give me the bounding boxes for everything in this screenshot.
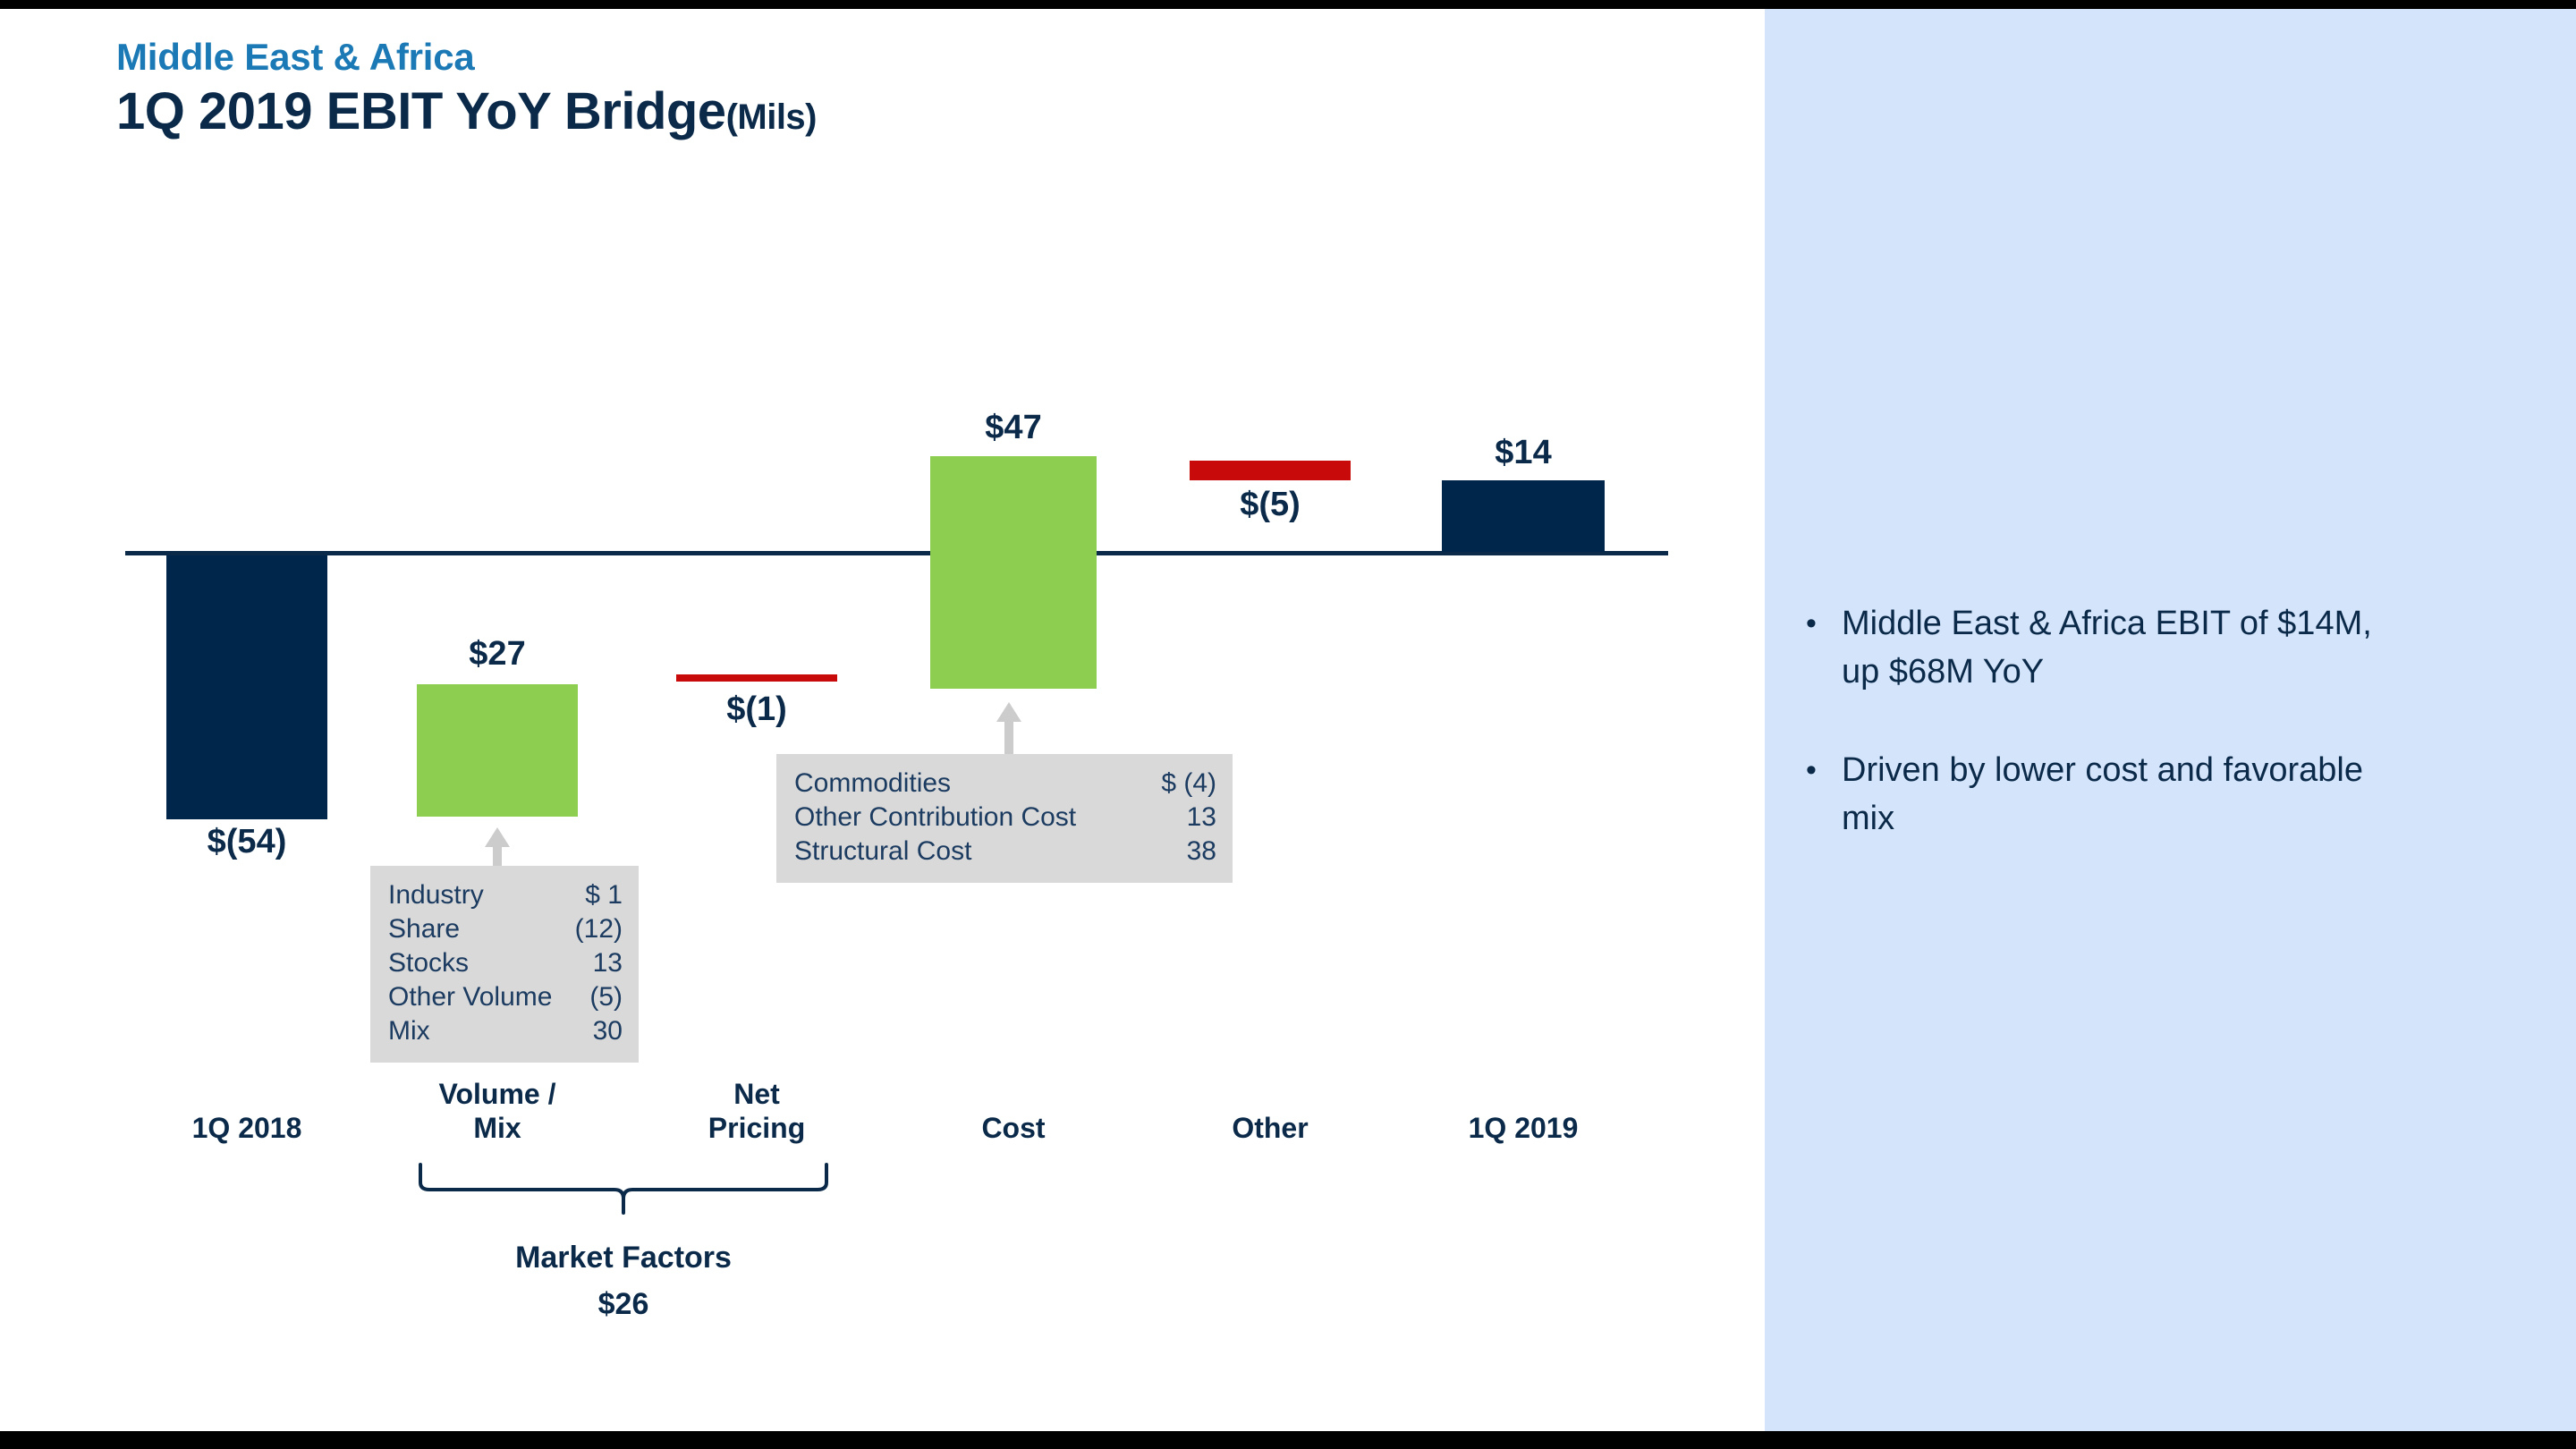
detail-label: Industry [388, 878, 484, 912]
commentary-text: Middle East & Africa EBIT of $14M, up $6… [1842, 599, 2414, 696]
axis-label-1q-2019: 1Q 2019 [1434, 1111, 1613, 1145]
bullet-icon: • [1801, 746, 1842, 794]
detail-value: $ 1 [560, 878, 623, 912]
detail-label: Commodities [794, 767, 951, 801]
market-factors-summary: Market Factors $26 [417, 1234, 830, 1327]
bar-cost[interactable] [930, 456, 1097, 689]
bar-1q-2019[interactable] [1442, 480, 1605, 552]
axis-label-net-pricing: Net Pricing [667, 1077, 846, 1145]
detail-value: 30 [568, 1014, 623, 1048]
detail-row: Industry $ 1 [388, 878, 623, 912]
axis-label-line: Pricing [667, 1111, 846, 1145]
market-factors-total: $26 [417, 1281, 830, 1327]
detail-value: 13 [1162, 801, 1216, 835]
axis-label-other: Other [1181, 1111, 1360, 1145]
commentary-text: Driven by lower cost and favorable mix [1842, 746, 2414, 843]
bar-label-1q-2018: $(54) [157, 823, 336, 861]
bar-label-net-pricing: $(1) [667, 691, 846, 729]
detail-label: Stocks [388, 946, 469, 980]
detail-box-volume-mix: Industry $ 1 Share (12) Stocks 13 Other … [370, 866, 639, 1063]
detail-row: Stocks 13 [388, 946, 623, 980]
bar-label-other: $(5) [1181, 486, 1360, 524]
bar-volume-mix[interactable] [417, 684, 578, 817]
commentary-bullet-list: • Middle East & Africa EBIT of $14M, up … [1801, 599, 2516, 893]
detail-row: Share (12) [388, 912, 623, 946]
arrow-cost-icon [996, 702, 1021, 754]
bar-other[interactable] [1190, 461, 1351, 480]
bar-label-volume-mix: $27 [408, 635, 587, 674]
axis-label-volume-mix: Volume / Mix [408, 1077, 587, 1145]
detail-row: Commodities $ (4) [794, 767, 1216, 801]
detail-row: Other Volume (5) [388, 980, 623, 1014]
bullet-icon: • [1801, 599, 1842, 648]
bar-net-pricing[interactable] [676, 674, 837, 682]
detail-value: (12) [550, 912, 623, 946]
detail-label: Structural Cost [794, 835, 971, 869]
market-factors-label: Market Factors [417, 1234, 830, 1281]
detail-value: 38 [1162, 835, 1216, 869]
market-factors-bracket-icon [417, 1161, 830, 1216]
waterfall-chart: $(54) $27 $(1) $47 $(5) $14 Industry [0, 9, 1765, 1431]
list-item: • Middle East & Africa EBIT of $14M, up … [1801, 599, 2516, 696]
axis-label-cost: Cost [924, 1111, 1103, 1145]
axis-label-line: Mix [408, 1111, 587, 1145]
bar-label-1q-2019: $14 [1434, 434, 1613, 472]
commentary-panel: • Middle East & Africa EBIT of $14M, up … [1765, 9, 2576, 1431]
list-item: • Driven by lower cost and favorable mix [1801, 746, 2516, 843]
detail-label: Mix [388, 1014, 430, 1048]
detail-label: Share [388, 912, 460, 946]
detail-row: Other Contribution Cost 13 [794, 801, 1216, 835]
top-frame-bar [0, 0, 2576, 9]
axis-label-line: Net [667, 1077, 846, 1111]
bottom-frame-bar [0, 1431, 2576, 1449]
detail-value: 13 [568, 946, 623, 980]
detail-label: Other Contribution Cost [794, 801, 1076, 835]
axis-label-1q-2018: 1Q 2018 [157, 1111, 336, 1145]
axis-label-line: Volume / [408, 1077, 587, 1111]
detail-label: Other Volume [388, 980, 552, 1014]
zero-axis-line [125, 551, 1668, 555]
slide-canvas: Middle East & Africa 1Q 2019 EBIT YoY Br… [0, 9, 2576, 1431]
detail-value: (5) [564, 980, 623, 1014]
detail-box-cost: Commodities $ (4) Other Contribution Cos… [776, 754, 1233, 883]
detail-row: Structural Cost 38 [794, 835, 1216, 869]
bar-label-cost: $47 [924, 409, 1103, 447]
detail-value: $ (4) [1136, 767, 1216, 801]
bar-1q-2018[interactable] [166, 555, 327, 819]
detail-row: Mix 30 [388, 1014, 623, 1048]
